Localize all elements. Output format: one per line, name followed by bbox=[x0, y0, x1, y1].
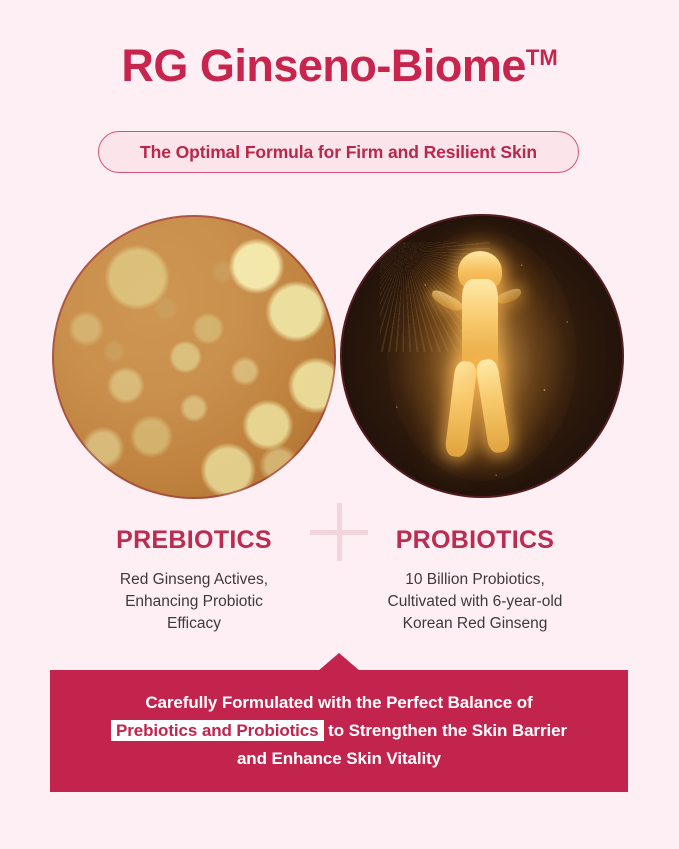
ginseng-root-circle bbox=[340, 214, 624, 498]
column-title-prebiotics: PREBIOTICS bbox=[64, 527, 324, 555]
root-leg-left-icon bbox=[444, 360, 478, 458]
root-branch-right-icon bbox=[495, 287, 523, 307]
column-title-probiotics: PROBIOTICS bbox=[345, 527, 605, 555]
root-leg-right-icon bbox=[475, 358, 511, 454]
summary-banner: Carefully Formulated with the Perfect Ba… bbox=[50, 653, 628, 792]
column-description-probiotics: 10 Billion Probiotics, Cultivated with 6… bbox=[345, 569, 605, 636]
plus-icon bbox=[310, 503, 368, 561]
banner-highlight: Prebiotics and Probiotics bbox=[111, 720, 324, 741]
ginseng-root-icon bbox=[422, 251, 542, 461]
banner-line-3: and Enhance Skin Vitality bbox=[237, 749, 441, 768]
promo-page: RG Ginseno-BiomeTM The Optimal Formula f… bbox=[0, 0, 679, 849]
banner-line-2: to Strengthen the Skin Barrier bbox=[324, 721, 567, 740]
banner-text: Carefully Formulated with the Perfect Ba… bbox=[111, 689, 567, 773]
trademark-symbol: TM bbox=[526, 45, 558, 70]
column-probiotics: PROBIOTICS 10 Billion Probiotics, Cultiv… bbox=[345, 527, 605, 636]
prebiotics-microscopy-circle bbox=[52, 215, 336, 499]
page-title: RG Ginseno-BiomeTM bbox=[0, 43, 679, 88]
column-prebiotics: PREBIOTICS Red Ginseng Actives, Enhancin… bbox=[64, 527, 324, 636]
page-title-text: RG Ginseno-Biome bbox=[121, 40, 526, 91]
subtitle-text: The Optimal Formula for Firm and Resilie… bbox=[140, 142, 537, 163]
banner-line-1: Carefully Formulated with the Perfect Ba… bbox=[145, 693, 532, 712]
column-description-prebiotics: Red Ginseng Actives, Enhancing Probiotic… bbox=[64, 569, 324, 636]
banner-box: Carefully Formulated with the Perfect Ba… bbox=[50, 670, 628, 792]
subtitle-pill: The Optimal Formula for Firm and Resilie… bbox=[98, 131, 579, 173]
banner-pointer-icon bbox=[318, 653, 360, 671]
root-branch-left-icon bbox=[429, 288, 465, 315]
ingredient-images bbox=[0, 214, 679, 502]
